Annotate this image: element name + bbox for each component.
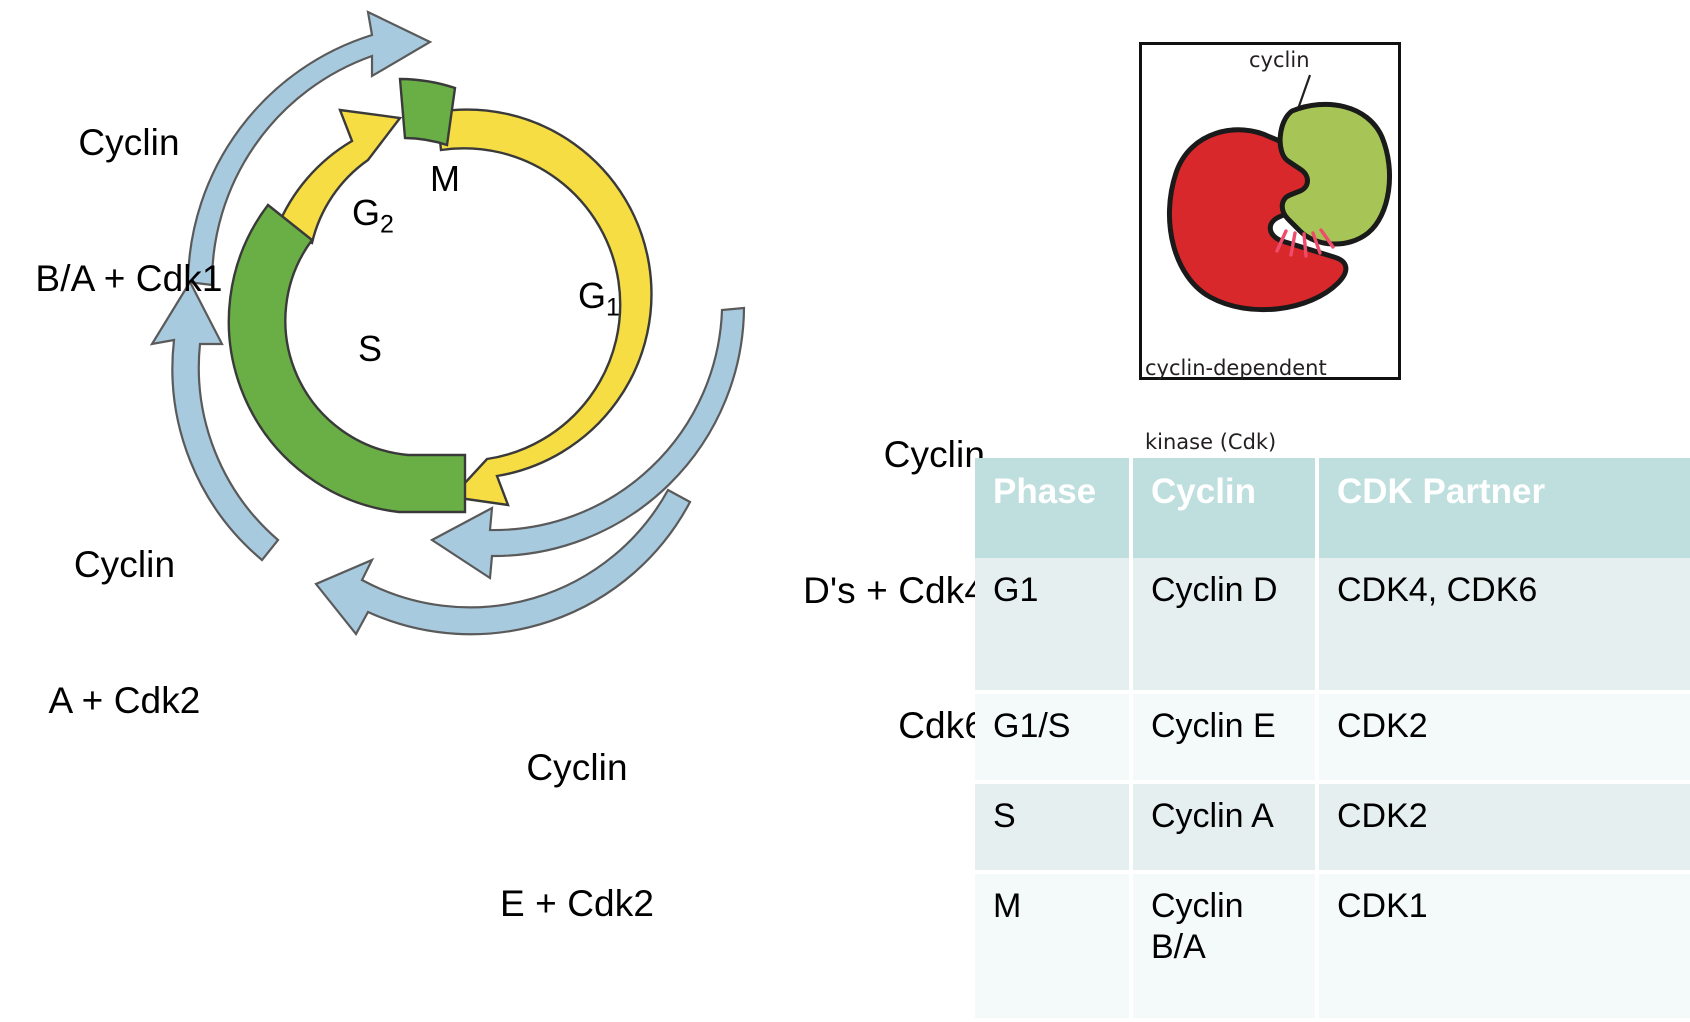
table-row: G1 Cyclin D CDK4, CDK6 <box>975 558 1690 692</box>
label-line-2: B/A + Cdk1 <box>14 256 244 301</box>
column-header-cdk: CDK Partner <box>1317 458 1690 558</box>
cell-cycle-wheel: M G2 S G1 Cyclin B/A + Cdk1 Cyclin A + C… <box>0 0 1000 790</box>
phase-label-s: S <box>358 328 382 370</box>
label-line-3: Cdk6 <box>760 703 985 748</box>
table-row: M Cyclin B/A CDK1 <box>975 872 1690 1020</box>
label-line-2: D's + Cdk4 <box>760 568 985 613</box>
label-cyclin-b-a-cdk1: Cyclin B/A + Cdk1 <box>14 30 244 391</box>
label-line-1: Cyclin <box>14 120 244 165</box>
label-cyclin-a-cdk2: Cyclin A + Cdk2 <box>22 452 227 813</box>
cell-cyclin: Cyclin B/A <box>1131 872 1317 1020</box>
cell-cyclin: Cyclin E <box>1131 692 1317 782</box>
cdk-caption-line-2: kinase (Cdk) <box>1145 430 1327 455</box>
label-line-1: Cyclin <box>760 432 985 477</box>
cdk-caption-line-1: cyclin-dependent <box>1145 356 1327 381</box>
column-header-cyclin: Cyclin <box>1131 458 1317 558</box>
phase-label-g1: G1 <box>578 275 620 323</box>
label-line-1: Cyclin <box>22 542 227 587</box>
m-phase-block <box>400 79 455 145</box>
table-row: G1/S Cyclin E CDK2 <box>975 692 1690 782</box>
phase-label-g2: G2 <box>352 192 394 240</box>
label-cyclin-d-cdk4-cdk6: Cyclin D's + Cdk4 Cdk6 <box>760 342 985 838</box>
cell-cdk: CDK1 <box>1317 872 1690 1020</box>
label-line-1: Cyclin <box>452 745 702 790</box>
label-line-2: E + Cdk2 <box>452 881 702 926</box>
cell-phase: G1 <box>975 558 1131 692</box>
cell-phase: S <box>975 782 1131 872</box>
cyclin-cdk-table: Phase Cyclin CDK Partner G1 Cyclin D CDK… <box>975 458 1690 1022</box>
cell-cdk: CDK2 <box>1317 782 1690 872</box>
label-cyclin-e-cdk2: Cyclin E + Cdk2 <box>452 655 702 1016</box>
s-phase-arc <box>229 205 465 512</box>
table-row: S Cyclin A CDK2 <box>975 782 1690 872</box>
cell-phase: G1/S <box>975 692 1131 782</box>
phase-label-m: M <box>430 158 460 200</box>
diagram-canvas: M G2 S G1 Cyclin B/A + Cdk1 Cyclin A + C… <box>0 0 1690 987</box>
table-header-row: Phase Cyclin CDK Partner <box>975 458 1690 558</box>
cell-cyclin: Cyclin A <box>1131 782 1317 872</box>
column-header-phase: Phase <box>975 458 1131 558</box>
cell-phase: M <box>975 872 1131 1020</box>
arrow-cyclin-d-cdk4-cdk6 <box>432 308 744 578</box>
cyclin-callout-label: cyclin <box>1249 48 1310 73</box>
cell-cyclin: Cyclin D <box>1131 558 1317 692</box>
label-line-2: A + Cdk2 <box>22 678 227 723</box>
cell-cdk: CDK4, CDK6 <box>1317 558 1690 692</box>
cell-cdk: CDK2 <box>1317 692 1690 782</box>
